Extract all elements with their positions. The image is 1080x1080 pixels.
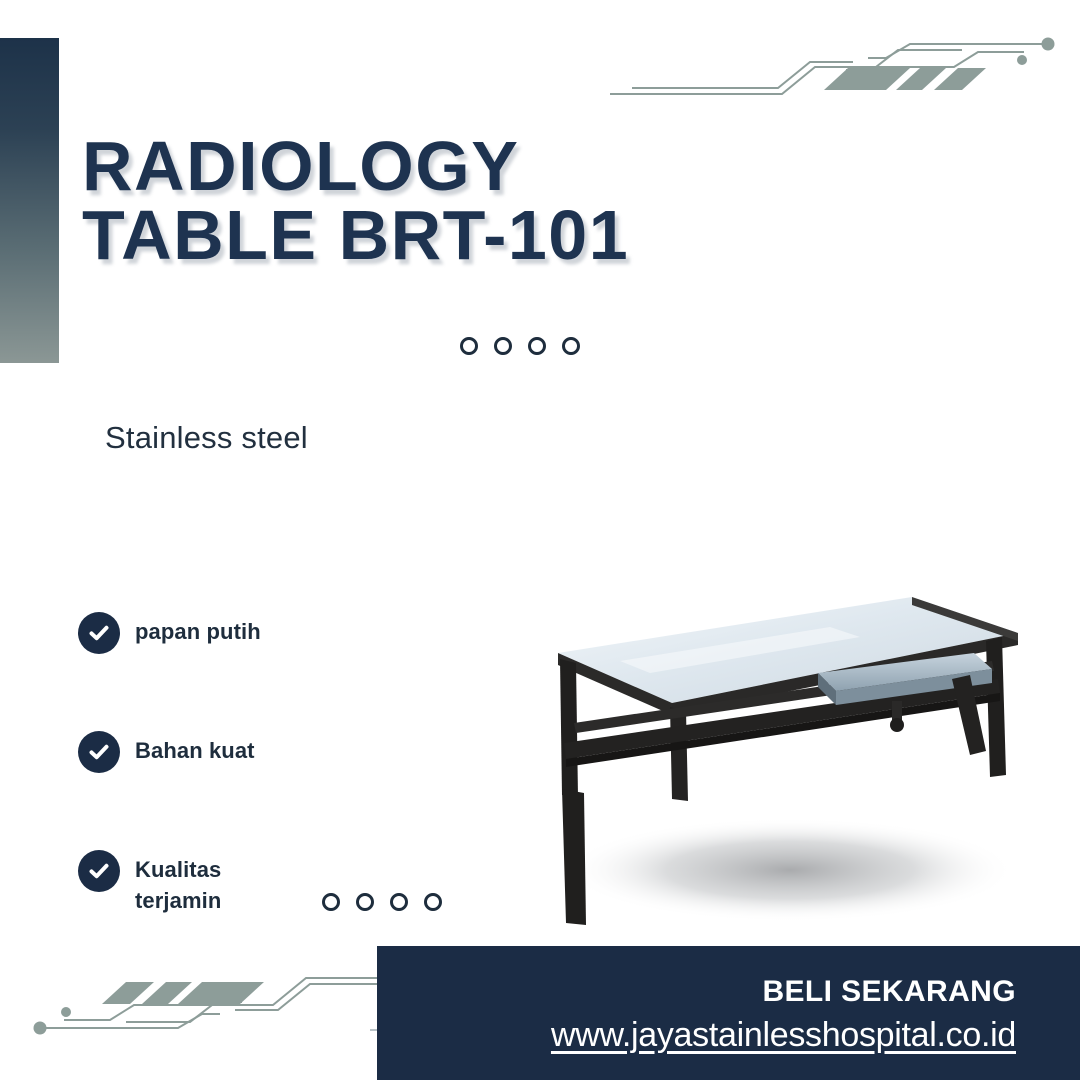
ring-icon	[390, 893, 408, 911]
ring-decoration-features	[322, 893, 442, 911]
ring-icon	[494, 337, 512, 355]
feature-label: papan putih	[135, 610, 261, 648]
ring-icon	[356, 893, 374, 911]
feature-label: Kualitas terjamin	[135, 848, 245, 917]
feature-label: Bahan kuat	[135, 729, 255, 767]
list-item: papan putih	[78, 610, 368, 654]
circuit-decoration-top-right	[610, 22, 1060, 112]
check-circle-icon	[78, 731, 120, 773]
check-circle-icon	[78, 612, 120, 654]
ring-icon	[322, 893, 340, 911]
ring-icon	[562, 337, 580, 355]
circuit-dot-small	[1017, 55, 1027, 65]
cta-label: BELI SEKARANG	[762, 975, 1016, 1009]
circuit-dot-large	[1042, 38, 1055, 51]
check-circle-icon	[78, 850, 120, 892]
ring-icon	[460, 337, 478, 355]
ring-decoration-title	[460, 337, 580, 355]
poster-canvas: RADIOLOGY TABLE BRT-101 Stainless steel …	[0, 0, 1080, 1080]
list-item: Bahan kuat	[78, 729, 368, 773]
website-url-link[interactable]: www.jayastainlesshospital.co.id	[551, 1016, 1016, 1055]
product-image	[500, 575, 1060, 955]
ring-icon	[528, 337, 546, 355]
page-title: RADIOLOGY TABLE BRT-101	[82, 132, 642, 269]
ring-icon	[424, 893, 442, 911]
left-gradient-bar	[0, 38, 59, 363]
feature-list: papan putih Bahan kuat Kualitas terjamin	[78, 610, 368, 917]
page-subtitle: Stainless steel	[105, 420, 308, 456]
footer-cta-panel	[377, 946, 1080, 1080]
